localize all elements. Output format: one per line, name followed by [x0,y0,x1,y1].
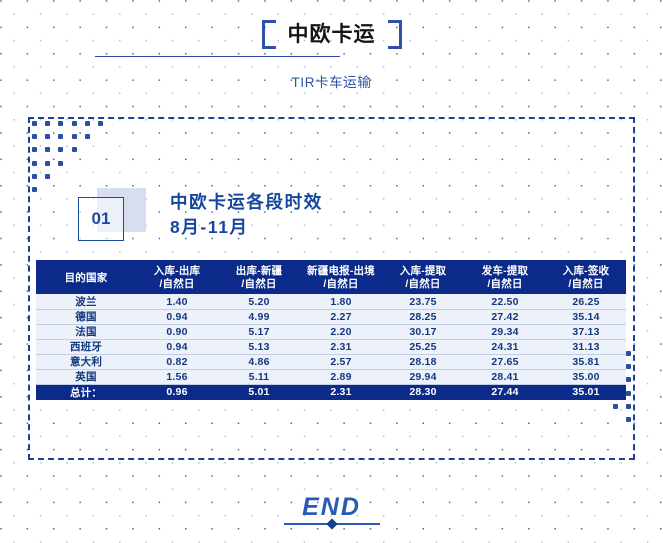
section-title-line2: 8月-11月 [170,215,360,240]
cell-value: 0.94 [136,309,218,324]
cell-country: 总计： [36,384,136,400]
row-separator [36,384,626,385]
col-header-country-line1: 目的国家 [65,272,108,284]
cell-value: 28.18 [382,354,464,369]
col-header-ruku-tiqu-line1: 入库-提取 [400,265,447,277]
col-header-chuku-xinjiang-line2: /自然日 [218,278,300,291]
row-separator [36,324,626,325]
table-total-row: 总计：0.965.012.3128.3027.4435.01 [36,384,626,400]
cell-value: 0.90 [136,324,218,339]
cell-value: 25.25 [382,339,464,354]
cell-country: 西班牙 [36,339,136,354]
table-row: 波兰1.405.201.8023.7522.5026.25 [36,294,626,309]
cell-value: 1.56 [136,369,218,384]
table-row: 意大利0.824.862.5728.1827.6535.81 [36,354,626,369]
cell-country: 波兰 [36,294,136,309]
col-header-ruku-chuku: 入库-出库 /自然日 [136,262,218,294]
end-rule [284,523,380,525]
cell-value: 2.57 [300,354,382,369]
cell-value: 35.14 [546,309,626,324]
cell-value: 31.13 [546,339,626,354]
section-number-box: 01 [78,197,124,241]
col-header-fache-tiqu-line1: 发车-提取 [482,265,529,277]
row-separator [36,354,626,355]
cell-value: 27.42 [464,309,546,324]
row-separator [36,309,626,310]
cell-value: 4.99 [218,309,300,324]
cell-value: 5.20 [218,294,300,309]
cell-value: 28.25 [382,309,464,324]
row-separator [36,339,626,340]
cell-country: 法国 [36,324,136,339]
col-header-xinjiang-chujing-line1: 新疆电报-出境 [307,265,375,277]
cell-value: 5.01 [218,384,300,400]
section-heading-block: 01 中欧卡运各段时效 8月-11月 [75,188,355,250]
cell-value: 28.30 [382,384,464,400]
cell-value: 23.75 [382,294,464,309]
right-corner-bracket-bottom-icon [387,20,402,49]
cell-value: 5.11 [218,369,300,384]
section-underline [95,56,340,57]
table-row: 西班牙0.945.132.3125.2524.3131.13 [36,339,626,354]
col-header-fache-tiqu: 发车-提取 /自然日 [464,262,546,294]
cell-country: 德国 [36,309,136,324]
col-header-ruku-tiqu-line2: /自然日 [382,278,464,291]
cell-value: 0.94 [136,339,218,354]
end-label: END [0,493,663,521]
col-header-ruku-qianshou: 入库-签收 /自然日 [546,262,626,294]
col-header-chuku-xinjiang: 出库-新疆 /自然日 [218,262,300,294]
cell-value: 27.44 [464,384,546,400]
cell-value: 2.27 [300,309,382,324]
section-title-line1: 中欧卡运各段时效 [170,190,360,215]
col-header-ruku-qianshou-line1: 入库-签收 [563,265,610,277]
cell-value: 1.40 [136,294,218,309]
left-corner-bracket-bottom-icon [262,20,277,49]
page-title: 中欧卡运 [288,23,376,46]
cell-value: 4.86 [218,354,300,369]
cell-value: 37.13 [546,324,626,339]
col-header-chuku-xinjiang-line1: 出库-新疆 [236,265,283,277]
cell-value: 0.96 [136,384,218,400]
cell-value: 5.13 [218,339,300,354]
cell-value: 2.20 [300,324,382,339]
col-header-xinjiang-chujing-line2: /自然日 [300,278,382,291]
cell-value: 29.34 [464,324,546,339]
cell-value: 2.31 [300,384,382,400]
col-header-ruku-chuku-line2: /自然日 [136,278,218,291]
table-row: 法国0.905.172.2030.1729.3437.13 [36,324,626,339]
col-header-fache-tiqu-line2: /自然日 [464,278,546,291]
cell-value: 35.01 [546,384,626,400]
cell-country: 意大利 [36,354,136,369]
col-header-ruku-qianshou-line2: /自然日 [546,278,626,291]
cell-value: 2.31 [300,339,382,354]
timeliness-table: 目的国家 入库-出库 /自然日 出库-新疆 /自然日 新疆电报-出境 /自然日 … [36,262,626,400]
col-header-xinjiang-chujing: 新疆电报-出境 /自然日 [300,262,382,294]
cell-value: 2.89 [300,369,382,384]
cell-value: 29.94 [382,369,464,384]
table-header-row: 目的国家 入库-出库 /自然日 出库-新疆 /自然日 新疆电报-出境 /自然日 … [36,262,626,294]
cell-value: 35.81 [546,354,626,369]
page-subtitle: TIR卡车运输 [0,71,663,91]
cell-value: 5.17 [218,324,300,339]
cell-value: 35.00 [546,369,626,384]
section-number: 01 [79,209,123,229]
col-header-ruku-chuku-line1: 入库-出库 [154,265,201,277]
table-header: 目的国家 入库-出库 /自然日 出库-新疆 /自然日 新疆电报-出境 /自然日 … [36,262,626,294]
cell-value: 22.50 [464,294,546,309]
cell-value: 27.65 [464,354,546,369]
page-header: 中欧卡运 TIR卡车运输 [0,0,663,91]
cell-value: 30.17 [382,324,464,339]
row-separator [36,369,626,370]
col-header-country: 目的国家 [36,262,136,294]
table-row: 德国0.944.992.2728.2527.4235.14 [36,309,626,324]
page-footer: END [0,493,663,525]
cell-country: 英国 [36,369,136,384]
col-header-ruku-tiqu: 入库-提取 /自然日 [382,262,464,294]
cell-value: 26.25 [546,294,626,309]
title-with-brackets: 中欧卡运 [254,17,410,55]
cell-value: 1.80 [300,294,382,309]
cell-value: 24.31 [464,339,546,354]
table-row: 英国1.565.112.8929.9428.4135.00 [36,369,626,384]
cell-value: 0.82 [136,354,218,369]
cell-value: 28.41 [464,369,546,384]
section-title: 中欧卡运各段时效 8月-11月 [170,190,360,240]
